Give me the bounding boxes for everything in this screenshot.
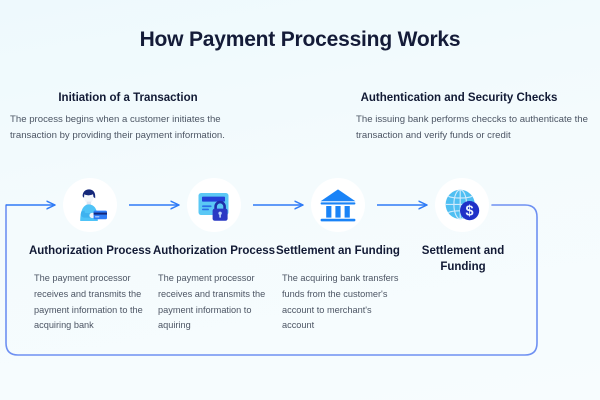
step-icon-1[interactable] [63, 178, 117, 232]
globe-with-dollar-icon: $ [442, 185, 482, 225]
step-column-2: Authorization Process The payment proces… [152, 244, 276, 334]
step-icon-4[interactable]: $ [435, 178, 489, 232]
step-icon-3[interactable] [311, 178, 365, 232]
step-label-4: Settlement and Funding [400, 244, 524, 276]
step-icon-2[interactable] [187, 178, 241, 232]
step-column-4: Settlement and Funding [400, 244, 524, 287]
step-column-3: Settlement an Funding The acquiring bank… [276, 244, 400, 334]
step-label-3: Settlement an Funding [276, 244, 400, 260]
person-with-card-icon [70, 185, 110, 225]
bank-building-icon [318, 185, 358, 225]
step-description-3: The acquiring bank transfers funds from … [276, 271, 400, 334]
step-description-2: The payment processor receives and trans… [152, 271, 276, 334]
infographic-canvas: How Payment Processing Works Initiation … [0, 0, 600, 400]
step-label-2: Authorization Process [152, 244, 276, 260]
svg-text:$: $ [466, 203, 474, 219]
step-description-1: The payment processor receives and trans… [28, 271, 152, 334]
step-column-1: Authorization Process The payment proces… [28, 244, 152, 334]
card-with-lock-icon [194, 185, 234, 225]
step-label-1: Authorization Process [28, 244, 152, 260]
